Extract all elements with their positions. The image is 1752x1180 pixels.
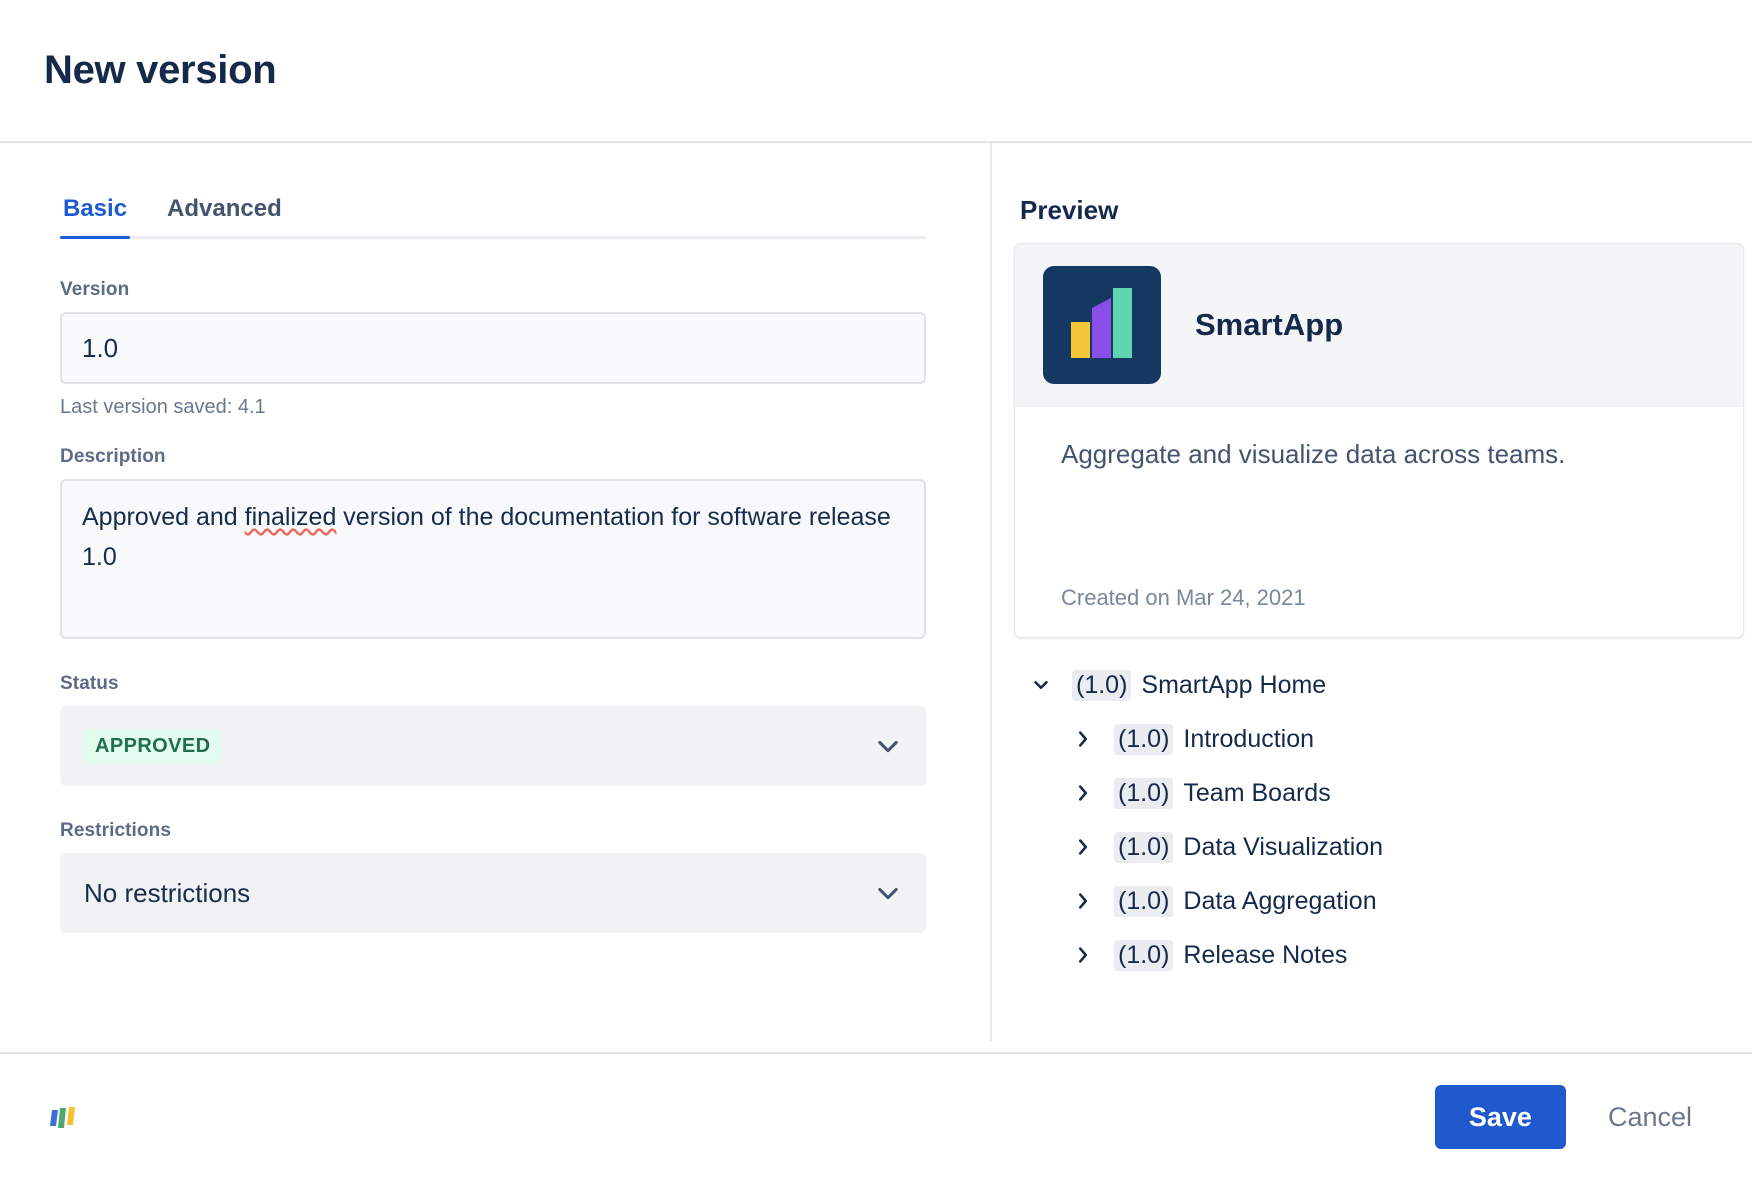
status-field-group: Status APPROVED <box>60 673 930 786</box>
chevron-right-icon[interactable] <box>1070 726 1096 752</box>
page-title: New version <box>44 48 276 93</box>
form-pane: Basic Advanced Version 1.0 Last version … <box>0 143 990 1052</box>
tree-version-badge: (1.0) <box>1114 886 1173 917</box>
chevron-right-icon[interactable] <box>1070 888 1096 914</box>
restrictions-value: No restrictions <box>84 878 250 909</box>
version-input[interactable]: 1.0 <box>60 312 926 384</box>
chevron-down-icon[interactable] <box>1028 672 1054 698</box>
dialog-header: New version <box>0 0 1752 143</box>
description-misspelled-word: finalized <box>245 503 337 531</box>
tree-item-label: Release Notes <box>1183 941 1347 970</box>
footer-actions: Save Cancel <box>1435 1085 1708 1149</box>
tree-version-badge: (1.0) <box>1114 832 1173 863</box>
chevron-down-icon <box>874 732 902 760</box>
tab-advanced[interactable]: Advanced <box>164 195 285 236</box>
tree-item-label: SmartApp Home <box>1141 671 1326 700</box>
tree-item-label: Introduction <box>1183 725 1314 754</box>
description-text-before: Approved and <box>82 503 245 531</box>
preview-app-name: SmartApp <box>1195 307 1343 343</box>
tree-item-label: Data Visualization <box>1183 833 1383 862</box>
preview-card-header: SmartApp <box>1015 244 1743 407</box>
chevron-down-icon <box>874 879 902 907</box>
spacer <box>60 794 930 820</box>
restrictions-field-group: Restrictions No restrictions <box>60 820 930 933</box>
tree-version-badge: (1.0) <box>1114 940 1173 971</box>
tree-version-badge: (1.0) <box>1072 670 1131 701</box>
status-select[interactable]: APPROVED <box>60 706 926 786</box>
tree-item-label: Data Aggregation <box>1183 887 1376 916</box>
preview-card: SmartApp Aggregate and visualize data ac… <box>1014 243 1744 638</box>
brand-logo-icon <box>44 1098 82 1136</box>
tree-row-data-visualization[interactable]: (1.0) Data Visualization <box>1028 820 1744 874</box>
tab-bar: Basic Advanced <box>60 195 926 239</box>
restrictions-label: Restrictions <box>60 820 930 842</box>
last-version-saved-text: Last version saved: 4.1 <box>60 396 930 419</box>
preview-pane: Preview SmartApp Aggregate and visualize… <box>990 143 1752 1052</box>
save-button[interactable]: Save <box>1435 1085 1566 1149</box>
bar-chart-glyph <box>1067 284 1137 358</box>
smartapp-logo-icon <box>1043 266 1161 384</box>
tree-row-introduction[interactable]: (1.0) Introduction <box>1028 712 1744 766</box>
tree-version-badge: (1.0) <box>1114 778 1173 809</box>
tree-version-badge: (1.0) <box>1114 724 1173 755</box>
version-label: Version <box>60 279 930 301</box>
page-tree: (1.0) SmartApp Home (1.0) Introduction (… <box>1028 658 1744 982</box>
preview-heading: Preview <box>1020 195 1744 226</box>
tab-basic[interactable]: Basic <box>60 195 130 236</box>
dialog-footer: Save Cancel <box>0 1052 1752 1180</box>
restrictions-select[interactable]: No restrictions <box>60 853 926 933</box>
chevron-right-icon[interactable] <box>1070 780 1096 806</box>
preview-created-date: Created on Mar 24, 2021 <box>1061 585 1306 611</box>
preview-card-body: Aggregate and visualize data across team… <box>1015 407 1743 637</box>
tree-row-team-boards[interactable]: (1.0) Team Boards <box>1028 766 1744 820</box>
description-field-group: Description Approved and finalized versi… <box>60 446 930 639</box>
tree-item-label: Team Boards <box>1183 779 1330 808</box>
status-label: Status <box>60 673 930 695</box>
chevron-right-icon[interactable] <box>1070 834 1096 860</box>
tree-row-data-aggregation[interactable]: (1.0) Data Aggregation <box>1028 874 1744 928</box>
status-badge: APPROVED <box>84 729 221 764</box>
cancel-button[interactable]: Cancel <box>1592 1085 1708 1149</box>
spacer <box>60 647 930 673</box>
chevron-right-icon[interactable] <box>1070 942 1096 968</box>
tree-row-release-notes[interactable]: (1.0) Release Notes <box>1028 928 1744 982</box>
description-textarea[interactable]: Approved and finalized version of the do… <box>60 479 926 639</box>
description-label: Description <box>60 446 930 468</box>
new-version-dialog: New version Basic Advanced Version 1.0 L… <box>0 0 1752 1180</box>
version-field-group: Version 1.0 Last version saved: 4.1 <box>60 279 930 419</box>
preview-description: Aggregate and visualize data across team… <box>1061 435 1591 475</box>
dialog-body: Basic Advanced Version 1.0 Last version … <box>0 143 1752 1052</box>
tree-row-root[interactable]: (1.0) SmartApp Home <box>1028 658 1744 712</box>
